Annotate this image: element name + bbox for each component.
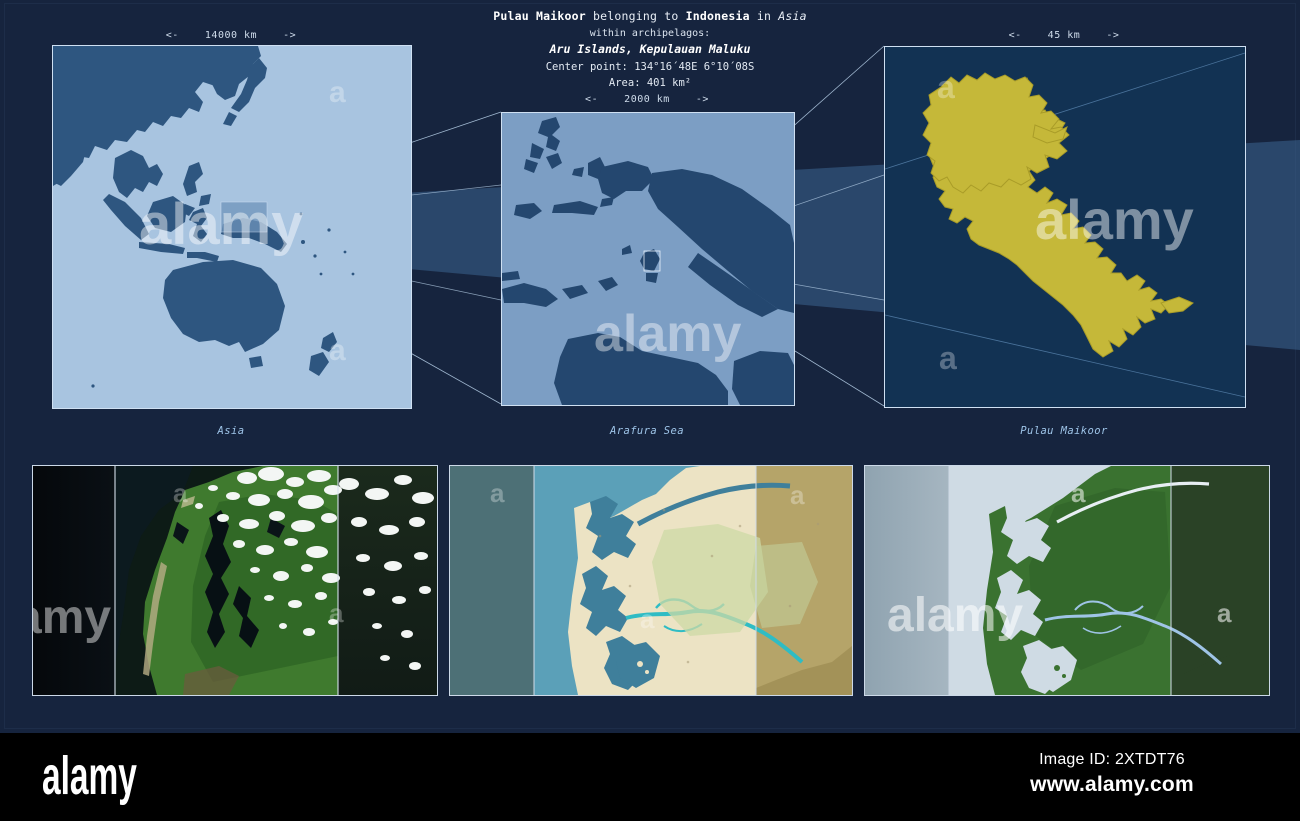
map-panel-region[interactable]: alamy: [501, 112, 795, 406]
scale-bar-island: <- 45 km ->: [884, 30, 1244, 41]
region-map-graphic: [502, 113, 794, 405]
map-panel-island[interactable]: a alamy a: [884, 46, 1246, 408]
caption-asia: Asia: [52, 425, 410, 437]
island-map-graphic: [885, 47, 1245, 407]
caption-region: Arafura Sea: [501, 425, 793, 437]
place-name: Pulau Maikoor: [493, 9, 586, 23]
map-panel-asia[interactable]: a alamy a: [52, 45, 412, 409]
image-id-label: Image ID: 2XTDT76: [952, 751, 1272, 769]
physical-relief-tile[interactable]: a a alamy: [864, 465, 1270, 696]
continent-name: Asia: [778, 9, 807, 23]
asia-map-graphic: [53, 46, 411, 408]
scale-bar-asia: <- 14000 km ->: [52, 30, 410, 41]
satellite-imagery-graphic: [33, 466, 437, 695]
header-connector-2: in: [750, 9, 779, 23]
terrain-map-graphic: [450, 466, 852, 695]
osm-style-terrain-tile[interactable]: a a a: [449, 465, 853, 696]
alamy-logo: alamy: [42, 749, 137, 803]
header-connector-1: belonging to: [586, 9, 686, 23]
alamy-watermark-bar: alamy Image ID: 2XTDT76 www.alamy.com: [0, 733, 1300, 821]
country-name: Indonesia: [686, 9, 750, 23]
screenshot-root: Pulau Maikoor belonging to Indonesia in …: [0, 0, 1300, 821]
scale-bar-region: <- 2000 km ->: [501, 94, 793, 105]
relief-map-graphic: [865, 466, 1269, 695]
map-figure-canvas: Pulau Maikoor belonging to Indonesia in …: [0, 0, 1300, 733]
alamy-meta: Image ID: 2XTDT76 www.alamy.com: [952, 751, 1272, 797]
alamy-url-label: www.alamy.com: [952, 773, 1272, 797]
header-line-subject: Pulau Maikoor belonging to Indonesia in …: [0, 8, 1300, 26]
caption-island: Pulau Maikoor: [884, 425, 1244, 437]
satellite-imagery-tile[interactable]: a a amy: [32, 465, 438, 696]
